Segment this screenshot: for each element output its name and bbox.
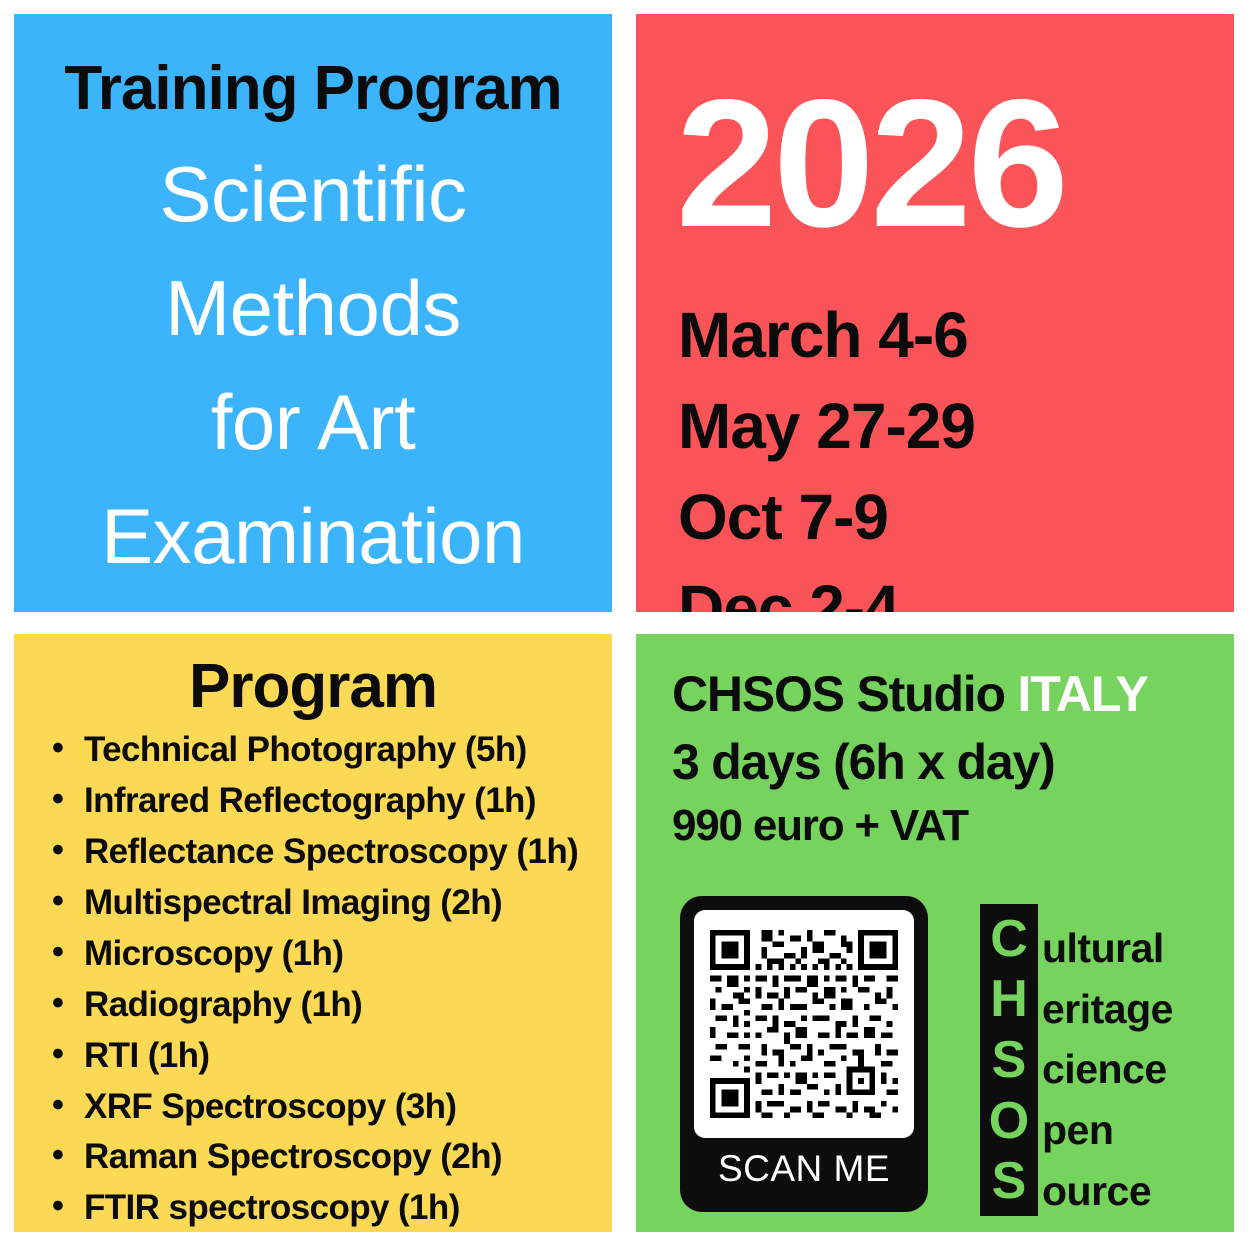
program-heading: Program — [14, 634, 612, 719]
title-panel: Training Program Scientific Methods for … — [14, 14, 612, 612]
list-item: Technical Photography (5h) — [48, 725, 612, 776]
session-dates-list: March 4-6 May 27-29 Oct 7-9 Dec 2-4 — [636, 254, 1234, 612]
studio-location: CHSOS Studio ITALY — [672, 660, 1234, 728]
qr-code-icon — [710, 930, 898, 1118]
chsos-acronym-bar: C H S O S — [980, 904, 1038, 1216]
acronym-letter: S — [992, 1034, 1027, 1086]
logo-word: ource — [1042, 1161, 1173, 1222]
list-item: Multispectral Imaging (2h) — [48, 878, 612, 929]
qr-code-frame — [694, 910, 914, 1138]
acronym-letter: O — [989, 1095, 1029, 1147]
logo-word: cience — [1042, 1039, 1173, 1100]
list-item: Oct 7-9 — [678, 472, 1234, 563]
qr-code-card[interactable]: SCAN ME — [680, 896, 928, 1212]
year-heading: 2026 — [636, 14, 1234, 254]
title-line-3: for Art — [14, 366, 612, 480]
list-item: March 4-6 — [678, 290, 1234, 381]
list-item: Microscopy (1h) — [48, 929, 612, 980]
logo-word: ultural — [1042, 918, 1173, 979]
chsos-logo: C H S O S ultural eritage cience pen our… — [980, 904, 1230, 1216]
list-item: Radiography (1h) — [48, 980, 612, 1031]
list-item: Reflectance Spectroscopy (1h) — [48, 827, 612, 878]
acronym-letter: S — [992, 1155, 1027, 1207]
title-line-4: Examination — [14, 480, 612, 594]
acronym-letter: H — [990, 973, 1028, 1025]
logo-word: pen — [1042, 1100, 1173, 1161]
scan-me-label: SCAN ME — [694, 1138, 914, 1200]
list-item: May 27-29 — [678, 381, 1234, 472]
poster-canvas: Training Program Scientific Methods for … — [0, 0, 1250, 1250]
qr-and-logo-row: SCAN ME C H S O S ultural eritage cience… — [672, 896, 1232, 1226]
page-title: Scientific Methods for Art Examination — [14, 120, 612, 594]
title-line-2: Methods — [14, 252, 612, 366]
info-panel: CHSOS Studio ITALY 3 days (6h x day) 990… — [636, 634, 1234, 1232]
studio-country: ITALY — [1018, 666, 1148, 722]
studio-label: CHSOS Studio — [672, 666, 1018, 722]
price-text: 990 euro + VAT — [672, 796, 1234, 856]
logo-word: eritage — [1042, 979, 1173, 1040]
list-item: RTI (1h) — [48, 1031, 612, 1082]
title-line-1: Scientific — [14, 138, 612, 252]
duration-text: 3 days (6h x day) — [672, 728, 1234, 796]
program-items-list: Technical Photography (5h) Infrared Refl… — [14, 719, 612, 1232]
acronym-letter: C — [990, 913, 1028, 965]
chsos-words: ultural eritage cience pen ource — [1038, 904, 1173, 1221]
list-item: Raman Spectroscopy (2h) — [48, 1132, 612, 1183]
program-panel: Program Technical Photography (5h) Infra… — [14, 634, 612, 1232]
training-program-kicker: Training Program — [14, 14, 612, 120]
list-item: Infrared Reflectography (1h) — [48, 776, 612, 827]
list-item: XRF Spectroscopy (3h) — [48, 1082, 612, 1133]
info-text-block: CHSOS Studio ITALY 3 days (6h x day) 990… — [636, 634, 1234, 856]
dates-panel: 2026 March 4-6 May 27-29 Oct 7-9 Dec 2-4 — [636, 14, 1234, 612]
list-item: Dec 2-4 — [678, 563, 1234, 612]
list-item: FTIR spectroscopy (1h) — [48, 1183, 612, 1232]
